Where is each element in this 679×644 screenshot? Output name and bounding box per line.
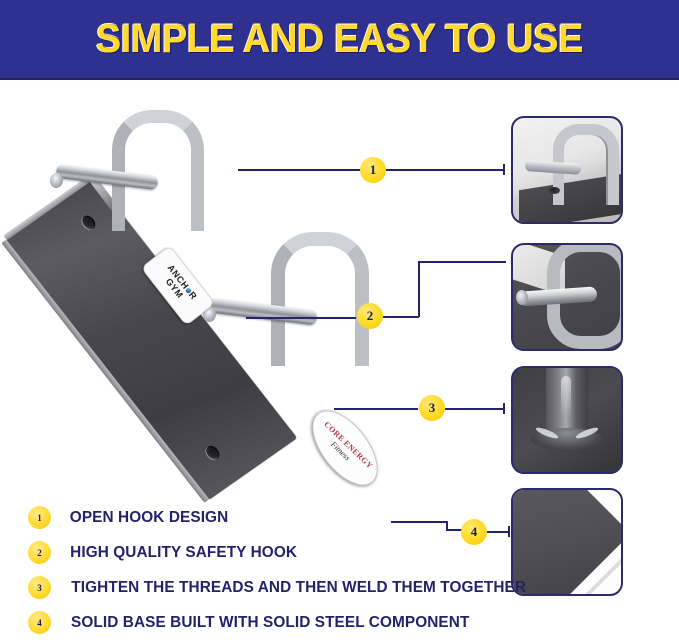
callout-4-leader-left [391,521,447,523]
callout-marker-4[interactable]: 4 [461,519,487,545]
feature-legend: 1 OPEN HOOK DESIGN 2 HIGH QUALITY SAFETY… [28,500,628,640]
callout-1-tick [503,164,505,175]
callout-3-tick [503,403,505,414]
callout-1-leader-left [238,169,365,171]
legend-label-3: TIGHTEN THE THREADS AND THEN WELD THEM T… [71,579,526,597]
callout-4-leader-right [487,531,509,533]
callout-4-tick [508,526,510,537]
callout-2-leader-vertical [418,262,420,317]
open-hook-lower [255,232,365,382]
legend-item-3: 3 TIGHTEN THE THREADS AND THEN WELD THEM… [28,570,628,605]
callout-marker-3[interactable]: 3 [419,395,445,421]
callout-2-leader-top [418,261,506,263]
open-hook-upper [98,110,198,240]
core-energy-label: CORE ENERGY Fitness [300,399,390,497]
infographic-canvas: SIMPLE AND EASY TO USE ANCHR GYM [0,0,679,644]
callout-2-leader-left [246,317,356,319]
legend-badge-3: 3 [28,576,51,599]
callout-marker-1[interactable]: 1 [360,157,386,183]
legend-item-4: 4 SOLID BASE BUILT WITH SOLID STEEL COMP… [28,605,628,640]
banner-underline [0,78,679,80]
legend-label-1: OPEN HOOK DESIGN [70,509,228,527]
legend-badge-1: 1 [28,506,51,529]
detail-photo-3[interactable] [511,366,623,474]
hook-arc [271,232,369,366]
legend-item-1: 1 OPEN HOOK DESIGN [28,500,628,535]
callout-3-leader-left [334,408,418,410]
callout-2-leader-right [383,316,419,318]
legend-item-2: 2 HIGH QUALITY SAFETY HOOK [28,535,628,570]
detail-3-shaft-glint [561,376,571,418]
callout-marker-2[interactable]: 2 [357,303,383,329]
hook-arc [112,110,204,231]
detail-1-hole [549,187,560,194]
legend-badge-4: 4 [28,611,51,634]
header-banner: SIMPLE AND EASY TO USE [0,0,679,78]
legend-label-2: HIGH QUALITY SAFETY HOOK [70,544,297,562]
legend-label-4: SOLID BASE BUILT WITH SOLID STEEL COMPON… [71,614,469,632]
callout-1-leader-right [386,169,504,171]
detail-photo-2[interactable] [511,243,623,351]
legend-badge-2: 2 [28,541,51,564]
hook-bar-end-cap [49,172,64,188]
callout-3-leader-right [445,408,503,410]
page-title: SIMPLE AND EASY TO USE [96,19,583,59]
detail-photo-1[interactable] [511,116,623,224]
